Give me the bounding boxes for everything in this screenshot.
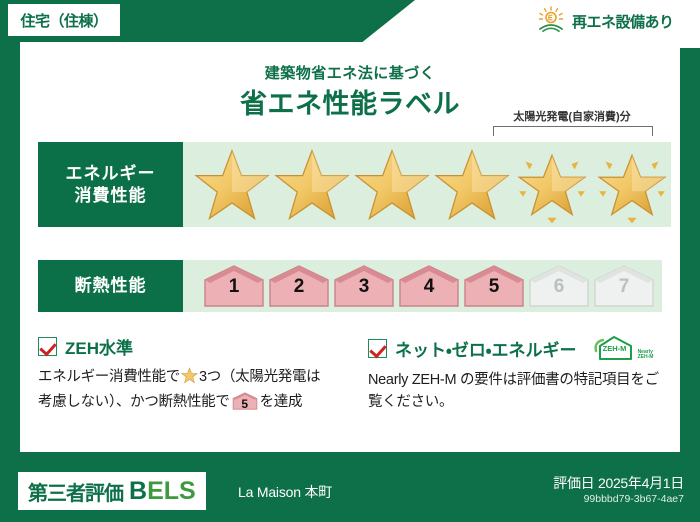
insulation-level-number: 2 — [268, 276, 330, 298]
solar-note-label: 太陽光発電(自家消費)分 — [482, 108, 662, 124]
evaluation-id: 99bbbd79-3b67-4ae7 — [584, 493, 684, 505]
zeh-standard-heading: ZEH水準 — [38, 334, 332, 359]
net-zero-energy-title: ネット・ゼロ・エネルギー — [395, 336, 577, 361]
label-card: 建築物省エネ法に基づく 省エネ性能ラベル エネルギー 消費性能 太陽光発電(自家… — [20, 42, 680, 452]
energy-performance-label: エネルギー 消費性能 — [38, 142, 183, 227]
insulation-label-text: 断熱性能 — [75, 275, 147, 296]
insulation-level-badge: 5 — [463, 264, 525, 308]
zeh-body-part1: エネルギー消費性能で — [38, 369, 180, 385]
insulation-level-badge: 3 — [333, 264, 395, 308]
zeh-standard-title: ZEH水準 — [65, 334, 133, 359]
net-zero-energy-heading: ネット・ゼロ・エネルギー ZEH-M Nearly ZEH-M — [368, 334, 662, 362]
energy-label-line1: エネルギー — [66, 163, 156, 184]
star-icon — [273, 146, 351, 224]
insulation-level-number: 3 — [333, 276, 395, 298]
star-icon — [193, 146, 271, 224]
insulation-level-badge: 2 — [268, 264, 330, 308]
inline-level-number: 5 — [232, 395, 258, 414]
bels-letters-els: ELS — [147, 477, 196, 505]
star-icon — [433, 146, 511, 224]
checkbox-checked-icon — [38, 337, 57, 356]
house-type-label: 住宅（住棟） — [20, 10, 107, 31]
house-type-tag: 住宅（住棟） — [8, 4, 120, 36]
zeh-body-part3: を達成 — [260, 394, 303, 410]
info-columns: ZEH水準 エネルギー消費性能で3つ（太陽光発電は考慮しない）、かつ断熱性能で5… — [20, 334, 680, 414]
zeh-standard-body: エネルギー消費性能で3つ（太陽光発電は考慮しない）、かつ断熱性能で5を達成 — [38, 366, 332, 414]
top-bar: 住宅（住棟） 再エネ設備あり — [0, 0, 700, 48]
star-rating — [183, 146, 671, 224]
energy-performance-body: 太陽光発電(自家消費)分 — [183, 142, 671, 227]
star-icon — [181, 367, 198, 391]
evaluation-date: 評価日 2025年4月1日 — [553, 473, 684, 493]
insulation-level-scale: 1 2 3 — [183, 264, 655, 308]
bels-logo: 第三者評価 BELS — [18, 472, 206, 510]
insulation-level-badge-inline: 5 — [232, 392, 258, 410]
renewable-energy-badge: 再エネ設備あり — [528, 4, 692, 38]
bels-letter-b: B — [129, 477, 147, 505]
insulation-level-number: 4 — [398, 276, 460, 298]
zeh-standard-section: ZEH水準 エネルギー消費性能で3つ（太陽光発電は考慮しない）、かつ断熱性能で5… — [20, 334, 350, 414]
insulation-level-number: 1 — [203, 276, 265, 298]
third-party-eval-label: 第三者評価 — [28, 477, 123, 506]
net-zero-energy-section: ネット・ゼロ・エネルギー ZEH-M Nearly ZEH-M Nearly Z… — [350, 334, 680, 414]
insulation-level-number: 5 — [463, 276, 525, 298]
zeh-m-logo-sub2: ZEH-M — [638, 355, 654, 360]
net-zero-energy-body: Nearly ZEH-M の要件は評価書の特記項目をご覧ください。 — [368, 369, 662, 414]
bels-wordmark: BELS — [129, 477, 196, 506]
svg-text:ZEH-M: ZEH-M — [602, 344, 626, 353]
insulation-performance-label: 断熱性能 — [38, 260, 183, 312]
energy-performance-row: エネルギー 消費性能 太陽光発電(自家消費)分 — [38, 142, 662, 227]
energy-label-line2: 消費性能 — [75, 185, 147, 206]
insulation-level-badge-inactive: 7 — [593, 264, 655, 308]
insulation-level-number: 7 — [593, 276, 655, 298]
solar-bracket — [493, 126, 653, 136]
sub-title: 建築物省エネ法に基づく — [20, 62, 680, 83]
insulation-level-number: 6 — [528, 276, 590, 298]
insulation-performance-body: 1 2 3 — [183, 260, 662, 312]
insulation-level-badge-inactive: 6 — [528, 264, 590, 308]
building-name: La Maison 本町 — [238, 482, 332, 502]
checkbox-checked-icon — [368, 339, 387, 358]
zeh-m-logo-icon: ZEH-M Nearly ZEH-M — [591, 334, 654, 362]
star-icon — [353, 146, 431, 224]
star-solar-icon — [513, 146, 591, 224]
insulation-level-badge: 4 — [398, 264, 460, 308]
insulation-performance-row: 断熱性能 1 2 — [38, 260, 662, 312]
footer-bar: 第三者評価 BELS La Maison 本町 評価日 2025年4月1日 99… — [0, 460, 700, 522]
renewable-energy-label: 再エネ設備あり — [572, 11, 674, 32]
sun-with-rays-icon — [536, 6, 566, 37]
star-solar-icon — [593, 146, 671, 224]
insulation-level-badge: 1 — [203, 264, 265, 308]
